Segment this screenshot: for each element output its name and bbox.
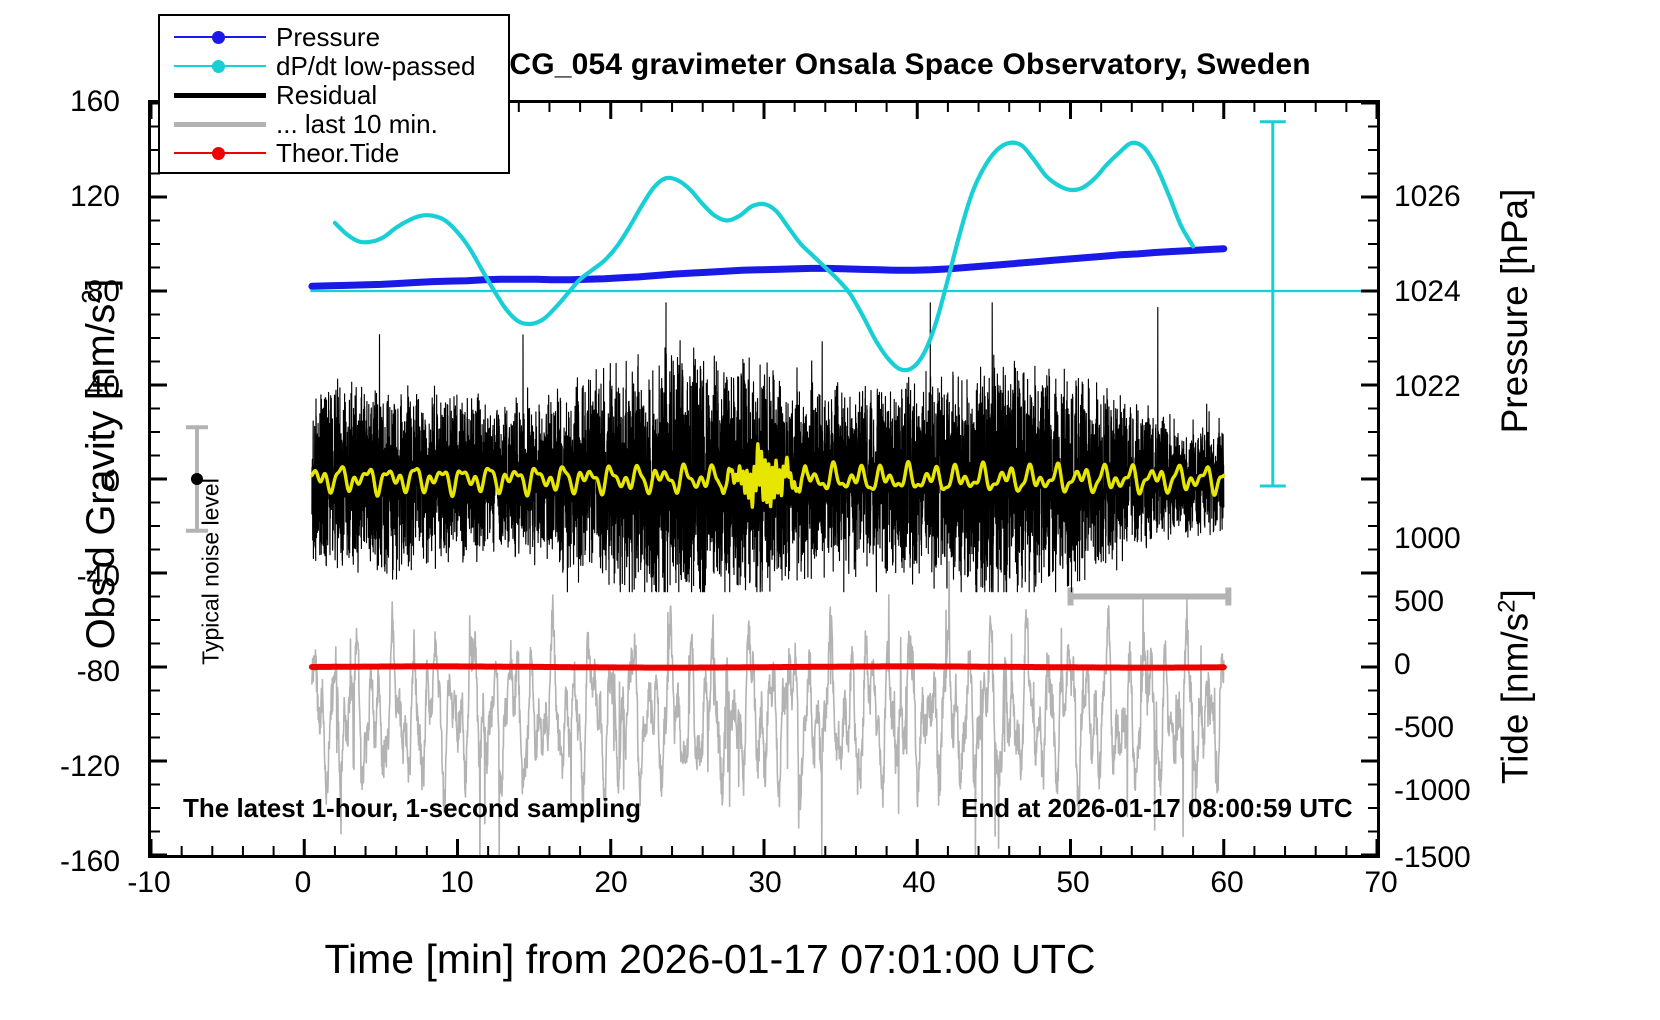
legend-line-dot-icon xyxy=(174,28,266,46)
y-tick-right-tide-500: 500 xyxy=(1394,587,1514,617)
footer-left-note: The latest 1-hour, 1-second sampling xyxy=(183,793,641,824)
series-pressure xyxy=(312,249,1224,287)
legend-line-icon xyxy=(174,115,266,133)
legend-item-theortide[interactable]: Theor.Tide xyxy=(160,138,508,167)
dpdt-scale-bar xyxy=(1260,122,1286,486)
x-tick-50: 50 xyxy=(1028,868,1118,898)
y-tick-right-1022: 1022 xyxy=(1394,372,1514,402)
plot-canvas xyxy=(151,103,1377,855)
series-theor-tide xyxy=(312,666,1224,667)
x-tick-70: 70 xyxy=(1336,868,1426,898)
y-tick-right-1024: 1024 xyxy=(1394,277,1514,307)
x-axis-title: Time [min] from 2026-01-17 07:01:00 UTC xyxy=(0,936,1420,983)
y-tick-right-tide-0: 0 xyxy=(1394,650,1514,680)
y-tick-right-tide-neg1000: -1000 xyxy=(1394,776,1514,806)
legend-item-residual[interactable]: Residual xyxy=(160,80,508,109)
x-tick-10: 10 xyxy=(412,868,502,898)
x-tick-60: 60 xyxy=(1182,868,1272,898)
x-tick-20: 20 xyxy=(566,868,656,898)
legend-item-pressure[interactable]: Pressure xyxy=(160,22,508,51)
y-tick-left-neg40: -40 xyxy=(10,562,120,592)
y-axis-right-pressure-title: Pressure [hPa] xyxy=(1494,101,1536,521)
legend-label: Pressure xyxy=(276,24,380,50)
y-tick-left-neg120: -120 xyxy=(10,752,120,782)
x-tick-0: 0 xyxy=(258,868,348,898)
y-tick-left-0: 0 xyxy=(10,467,120,497)
chart-title: SCG_054 gravimeter Onsala Space Observat… xyxy=(400,48,1400,82)
chart-legend[interactable]: Pressure dP/dt low-passed Residual ... l… xyxy=(158,14,510,174)
y-tick-left-neg80: -80 xyxy=(10,657,120,687)
plot-frame: The latest 1-hour, 1-second sampling End… xyxy=(148,100,1380,858)
y-tick-left-40: 40 xyxy=(10,372,120,402)
legend-item-dpdt[interactable]: dP/dt low-passed xyxy=(160,51,508,80)
legend-label: dP/dt low-passed xyxy=(276,53,475,79)
x-tick-30: 30 xyxy=(720,868,810,898)
y-tick-right-1026: 1026 xyxy=(1394,182,1514,212)
chart-page: SCG_054 gravimeter Onsala Space Observat… xyxy=(0,0,1660,1020)
footer-right-note: End at 2026-01-17 08:00:59 UTC xyxy=(961,793,1353,824)
plot-area xyxy=(151,103,1377,855)
legend-label: ... last 10 min. xyxy=(276,111,438,137)
y-tick-left-160: 160 xyxy=(10,87,120,117)
legend-line-dot-icon xyxy=(174,144,266,162)
x-tick-neg10: -10 xyxy=(104,868,194,898)
legend-label: Residual xyxy=(276,82,377,108)
series-residual xyxy=(312,303,1224,592)
legend-line-dot-icon xyxy=(174,57,266,75)
y-tick-left-120: 120 xyxy=(10,182,120,212)
typical-noise-level-label: Typical noise level xyxy=(198,457,225,687)
y-tick-left-80: 80 xyxy=(10,277,120,307)
x-tick-40: 40 xyxy=(874,868,964,898)
legend-label: Theor.Tide xyxy=(276,140,399,166)
legend-item-last10[interactable]: ... last 10 min. xyxy=(160,109,508,138)
last10-scale-bar xyxy=(1071,588,1229,606)
y-tick-right-tide-neg500: -500 xyxy=(1394,713,1514,743)
y-tick-right-tide-1000: 1000 xyxy=(1394,524,1514,554)
legend-line-icon xyxy=(174,86,266,104)
